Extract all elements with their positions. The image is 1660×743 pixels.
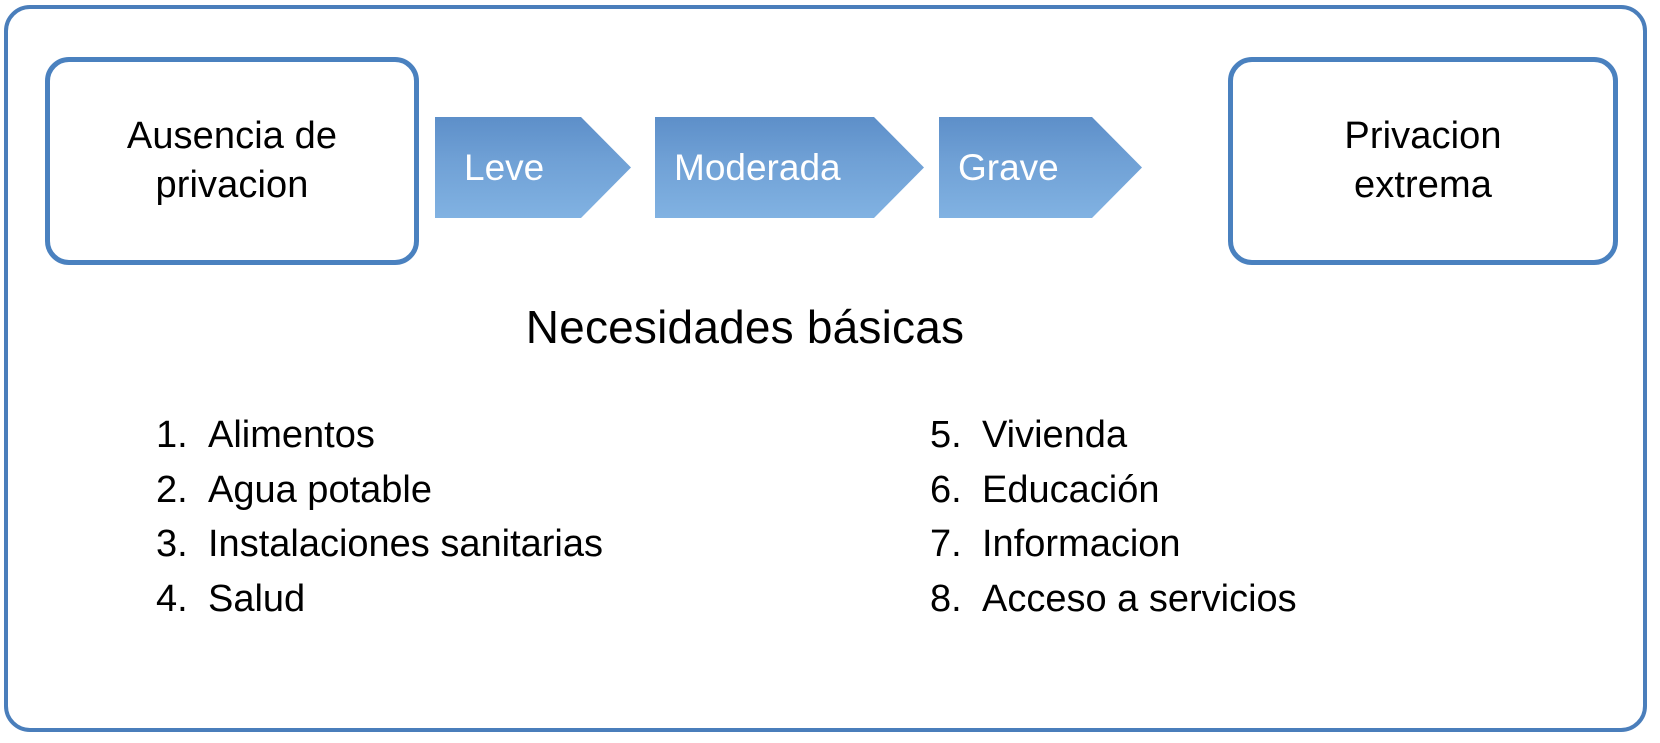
need-label: Alimentos bbox=[208, 408, 375, 463]
list-item: 6. Educación bbox=[930, 463, 1297, 518]
need-number: 2. bbox=[156, 463, 208, 518]
need-label: Vivienda bbox=[982, 408, 1127, 463]
stage-arrow-moderada: Moderada bbox=[655, 117, 924, 218]
stage-label-leve: Leve bbox=[464, 147, 544, 189]
need-number: 8. bbox=[930, 572, 982, 627]
need-number: 3. bbox=[156, 517, 208, 572]
need-label: Acceso a servicios bbox=[982, 572, 1297, 627]
endpoint-box-end: Privacion extrema bbox=[1228, 57, 1618, 265]
need-number: 1. bbox=[156, 408, 208, 463]
endpoint-end-label: Privacion extrema bbox=[1233, 112, 1613, 209]
list-item: 3. Instalaciones sanitarias bbox=[156, 517, 603, 572]
stage-label-grave: Grave bbox=[958, 147, 1059, 189]
need-label: Informacion bbox=[982, 517, 1181, 572]
list-item: 1. Alimentos bbox=[156, 408, 603, 463]
section-title: Necesidades básicas bbox=[0, 300, 1490, 354]
need-label: Agua potable bbox=[208, 463, 432, 518]
needs-list-left: 1. Alimentos 2. Agua potable 3. Instalac… bbox=[156, 408, 603, 627]
list-item: 2. Agua potable bbox=[156, 463, 603, 518]
need-number: 4. bbox=[156, 572, 208, 627]
diagram-canvas: Ausencia de privacion Leve Moderada Grav… bbox=[0, 0, 1660, 743]
need-label: Educación bbox=[982, 463, 1159, 518]
list-item: 5. Vivienda bbox=[930, 408, 1297, 463]
stage-label-moderada: Moderada bbox=[674, 147, 841, 189]
need-number: 7. bbox=[930, 517, 982, 572]
need-number: 6. bbox=[930, 463, 982, 518]
endpoint-box-start: Ausencia de privacion bbox=[45, 57, 419, 265]
need-number: 5. bbox=[930, 408, 982, 463]
need-label: Instalaciones sanitarias bbox=[208, 517, 603, 572]
needs-list-right: 5. Vivienda 6. Educación 7. Informacion … bbox=[930, 408, 1297, 627]
list-item: 4. Salud bbox=[156, 572, 603, 627]
list-item: 7. Informacion bbox=[930, 517, 1297, 572]
endpoint-start-label: Ausencia de privacion bbox=[50, 112, 414, 209]
list-item: 8. Acceso a servicios bbox=[930, 572, 1297, 627]
need-label: Salud bbox=[208, 572, 305, 627]
